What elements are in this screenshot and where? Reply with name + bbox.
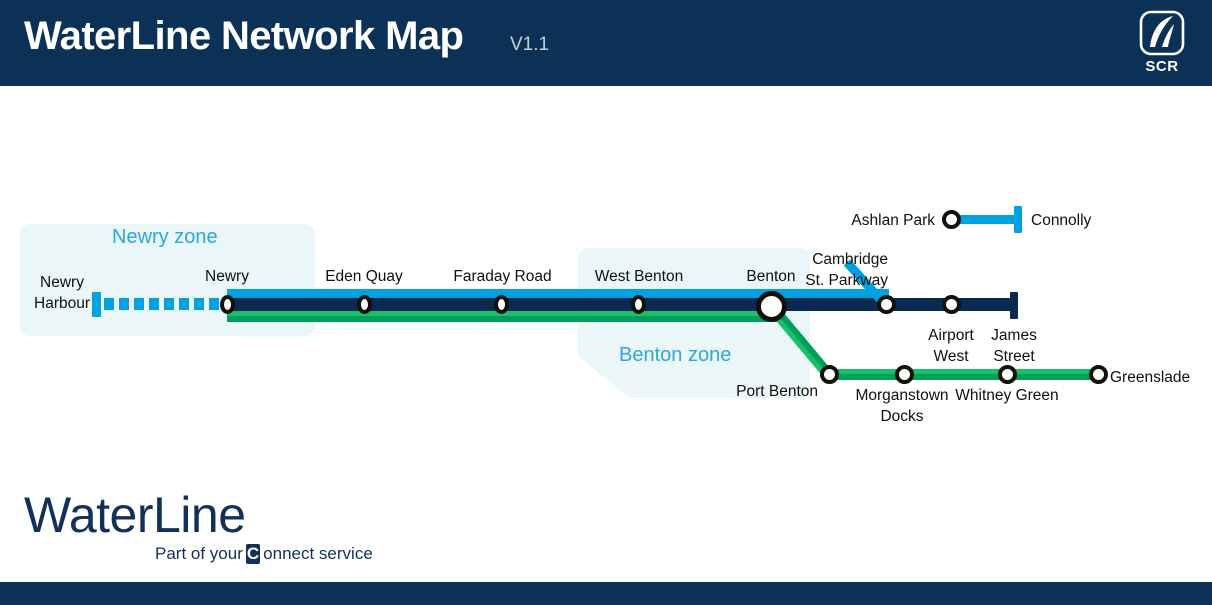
- connect-logo-mark: C: [246, 544, 260, 564]
- station-label-greenslade: Greenslade: [1110, 367, 1210, 388]
- line-green-east: [826, 369, 1101, 380]
- dotted-segment-newry-harbour: [104, 298, 228, 310]
- station-label-newry: Newry: [177, 266, 277, 287]
- station-label-faraday-road: Faraday Road: [435, 266, 570, 287]
- tagline-after: onnect service: [263, 544, 373, 564]
- station-marker-whitney-green[interactable]: [998, 365, 1017, 384]
- version-label: V1.1: [510, 34, 549, 56]
- station-label-whitney-green: Whitney Green: [940, 385, 1074, 406]
- station-label-connolly: Connolly: [1031, 210, 1161, 231]
- station-marker-newry[interactable]: [220, 295, 235, 314]
- page-title: WaterLine Network Map: [24, 14, 463, 59]
- scr-sail-icon: [1139, 10, 1185, 56]
- brand-tagline: Part of your Connect service: [155, 544, 373, 564]
- station-marker-eden-quay[interactable]: [357, 295, 372, 314]
- station-marker-port-benton[interactable]: [820, 365, 839, 384]
- station-marker-ashlan-park[interactable]: [942, 210, 961, 229]
- terminus-cap-connolly: [1014, 206, 1022, 233]
- brand-name: WaterLine: [24, 486, 246, 544]
- station-marker-cambridge-st-parkway[interactable]: [877, 295, 896, 314]
- tagline-before: Part of your: [155, 544, 243, 564]
- station-label-newry-harbour: Newry Harbour: [18, 272, 106, 315]
- station-label-ashlan-park: Ashlan Park: [790, 210, 935, 231]
- station-label-james-street: James Street: [975, 325, 1053, 368]
- station-label-cambridge-st-parkway: Cambridge St. Parkway: [760, 249, 888, 292]
- scr-logo-text: SCR: [1130, 58, 1194, 75]
- station-label-eden-quay: Eden Quay: [305, 266, 423, 287]
- station-marker-airport-west[interactable]: [942, 295, 961, 314]
- footer-bar: [0, 582, 1212, 605]
- scr-logo: SCR: [1130, 10, 1194, 78]
- zone-label-benton: Benton zone: [619, 344, 731, 367]
- station-marker-faraday-road[interactable]: [494, 295, 509, 314]
- app-header: WaterLine Network Map V1.1 SCR: [0, 0, 1212, 86]
- station-marker-benton[interactable]: [756, 291, 787, 322]
- station-label-west-benton: West Benton: [568, 266, 710, 287]
- station-label-port-benton: Port Benton: [706, 381, 818, 402]
- station-marker-west-benton[interactable]: [631, 295, 646, 314]
- station-marker-morganstown-docks[interactable]: [895, 365, 914, 384]
- waterline-brand: WaterLine Part of your Connect service: [0, 486, 420, 576]
- station-marker-greenslade[interactable]: [1089, 365, 1108, 384]
- zone-label-newry: Newry zone: [112, 226, 218, 249]
- terminus-cap-james-street: [1010, 292, 1018, 319]
